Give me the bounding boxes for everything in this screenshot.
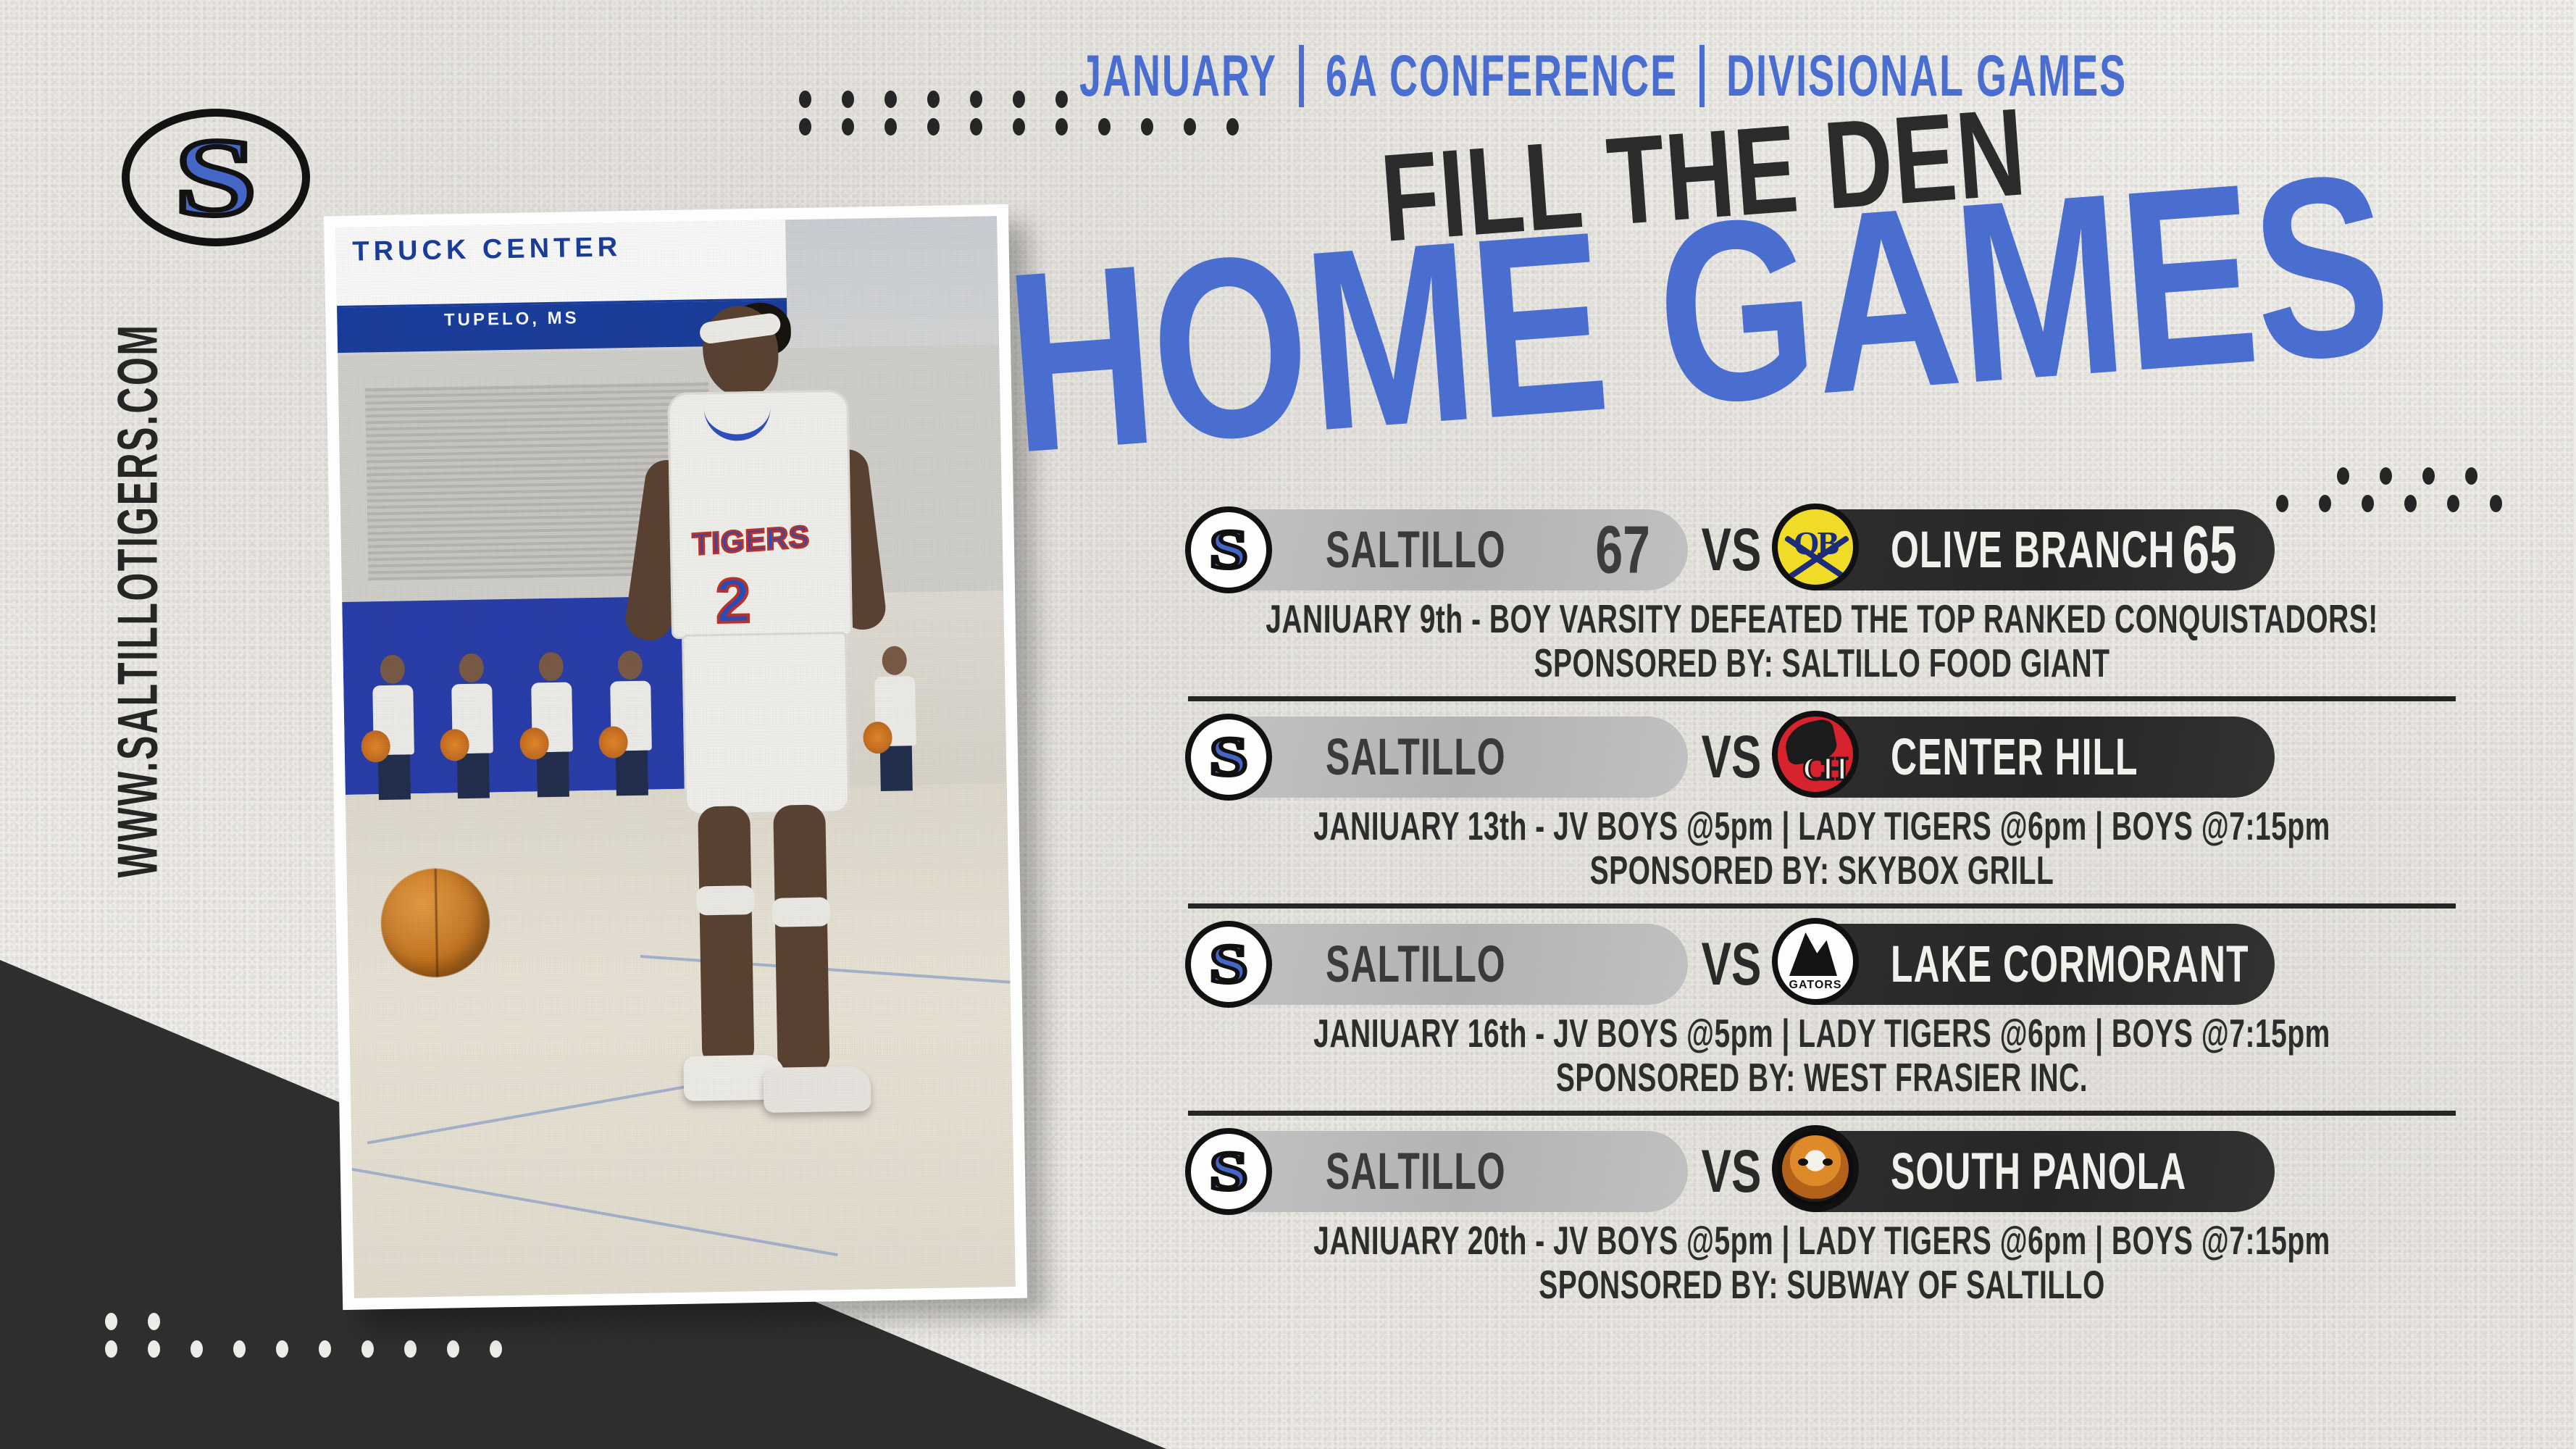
saltillo-s-icon: S	[1185, 921, 1272, 1008]
saltillo-s-icon: S	[1185, 714, 1272, 801]
away-team-pill[interactable]: SOUTH PANOLA	[1775, 1131, 2275, 1212]
vs-label: VS	[1688, 515, 1775, 585]
row-divider	[1188, 1111, 2456, 1116]
home-team-name: SALTILLO	[1326, 1142, 1506, 1201]
game-sponsor-line: SPONSORED BY: SALTILLO FOOD GIANT	[1534, 642, 2109, 687]
game-schedule-line: JANIUARY 16th - JV BOYS @5pm | LADY TIGE…	[1313, 1012, 2330, 1057]
eyebrow-divider-icon	[1299, 45, 1304, 107]
home-team-pill[interactable]: S SALTILLO	[1188, 1131, 1688, 1212]
away-team-pill[interactable]: CH CENTER HILL	[1775, 717, 2275, 798]
game-row[interactable]: S SALTILLO VS CH CENTER HILL JANIUARY 13…	[1188, 714, 2456, 909]
dot-row	[105, 1340, 502, 1358]
away-team-pill[interactable]: OB OLIVE BRANCH 65	[1775, 509, 2275, 590]
game-sponsor-line: SPONSORED BY: SUBWAY OF SALTILLO	[1539, 1264, 2105, 1308]
home-team-pill[interactable]: S SALTILLO 67	[1188, 509, 1688, 590]
saltillo-logo-badge: S	[122, 109, 310, 246]
game-meta: JANIUARY 13th - JV BOYS @5pm | LADY TIGE…	[1188, 811, 2456, 888]
eyebrow-divider-icon	[1699, 45, 1705, 107]
center-hill-mustangs-icon: CH	[1772, 711, 1859, 798]
away-team-name: SOUTH PANOLA	[1891, 1142, 2186, 1201]
row-divider	[1188, 696, 2456, 701]
game-row[interactable]: S SALTILLO VS GATORS LAKE CORMORANT JANI…	[1188, 922, 2456, 1116]
dot-row	[799, 118, 1239, 135]
eyebrow-bar: JANUARY 6A CONFERENCE DIVISIONAL GAMES	[1079, 51, 2499, 101]
website-vertical-label: WWW.SALTILLOTIGERS.COM	[105, 304, 170, 898]
dot-pattern-right	[2276, 467, 2502, 512]
away-team-name: OLIVE BRANCH	[1891, 520, 2175, 580]
game-row[interactable]: S SALTILLO 67 VS OB OLIVE BRANCH 65 JANI…	[1188, 507, 2456, 701]
schedule-list: S SALTILLO 67 VS OB OLIVE BRANCH 65 JANI…	[1188, 507, 2456, 1302]
vs-label: VS	[1688, 722, 1775, 792]
team-photo-frame: TRUCK CENTER TUPELO, MS TIGERS	[324, 204, 1027, 1310]
away-team-pill[interactable]: GATORS LAKE CORMORANT	[1775, 924, 2275, 1005]
home-team-name: SALTILLO	[1326, 935, 1506, 994]
game-schedule-line: JANIUARY 9th - BOY VARSITY DEFEATED THE …	[1266, 598, 2378, 643]
lake-cormorant-gators-icon: GATORS	[1772, 918, 1859, 1005]
home-team-score: 67	[1595, 511, 1650, 588]
row-divider	[1188, 903, 2456, 909]
game-meta: JANIUARY 9th - BOY VARSITY DEFEATED THE …	[1188, 604, 2456, 680]
vs-label: VS	[1688, 930, 1775, 999]
olive-branch-conquistadors-icon: OB	[1772, 504, 1859, 590]
home-team-pill[interactable]: S SALTILLO	[1188, 717, 1688, 798]
away-team-name: LAKE CORMORANT	[1891, 935, 2249, 994]
home-team-name: SALTILLO	[1326, 727, 1506, 787]
game-sponsor-line: SPONSORED BY: WEST FRASIER INC.	[1556, 1056, 2088, 1101]
vs-label: VS	[1688, 1137, 1775, 1206]
home-team-pill[interactable]: S SALTILLO	[1188, 924, 1688, 1005]
away-team-score: 65	[2182, 511, 2237, 588]
saltillo-s-icon: S	[1185, 506, 1272, 593]
team-photo: TRUCK CENTER TUPELO, MS TIGERS	[335, 216, 1016, 1298]
away-team-name: CENTER HILL	[1891, 727, 2138, 787]
game-row[interactable]: S SALTILLO VS SOUTH PANOLA JANIUARY 20th…	[1188, 1129, 2456, 1302]
headline-title: HOME GAMES	[998, 116, 2397, 511]
dot-row	[105, 1313, 502, 1330]
game-schedule-line: JANIUARY 13th - JV BOYS @5pm | LADY TIGE…	[1313, 805, 2330, 850]
eyebrow-conference: 6A CONFERENCE	[1326, 43, 1678, 110]
saltillo-s-icon: S	[175, 122, 257, 233]
eyebrow-month: JANUARY	[1079, 43, 1277, 110]
game-meta: JANIUARY 20th - JV BOYS @5pm | LADY TIGE…	[1188, 1226, 2456, 1302]
game-sponsor-line: SPONSORED BY: SKYBOX GRILL	[1590, 849, 2054, 894]
poster-canvas: S WWW.SALTILLOTIGERS.COM TRUCK CENTER TU…	[0, 0, 2576, 1449]
dot-pattern-bottom-left	[105, 1313, 502, 1358]
game-schedule-line: JANIUARY 20th - JV BOYS @5pm | LADY TIGE…	[1313, 1219, 2330, 1264]
dot-row	[2276, 467, 2502, 485]
south-panola-tigers-icon	[1772, 1125, 1859, 1212]
saltillo-s-icon: S	[1185, 1128, 1272, 1215]
home-team-name: SALTILLO	[1326, 520, 1506, 580]
game-meta: JANIUARY 16th - JV BOYS @5pm | LADY TIGE…	[1188, 1019, 2456, 1095]
